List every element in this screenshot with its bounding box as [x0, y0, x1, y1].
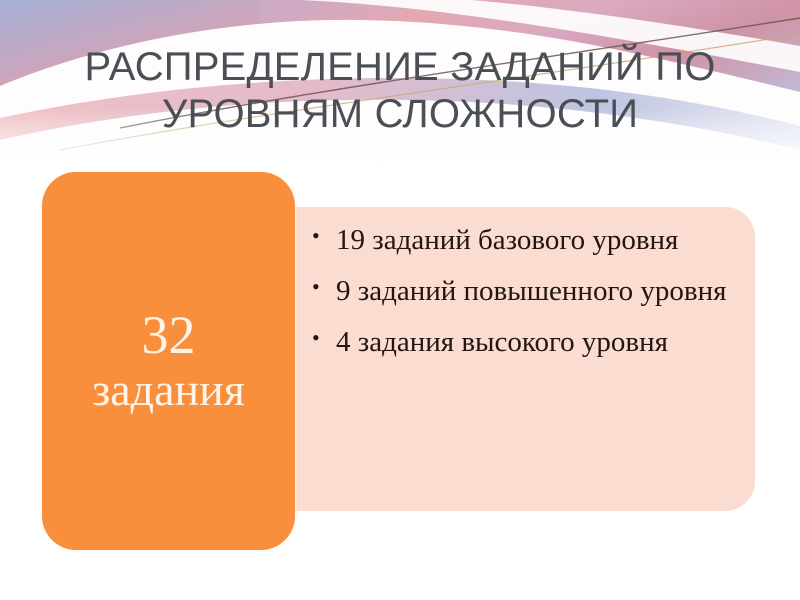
bullet-point-icon: •: [312, 273, 336, 301]
summary-card-label: задания: [92, 366, 245, 414]
bullet-point-icon: •: [312, 222, 336, 250]
list-item: • 9 заданий повышенного уровня: [312, 273, 742, 310]
list-item: • 19 заданий базового уровня: [312, 222, 742, 259]
summary-card[interactable]: 32 задания: [42, 172, 295, 550]
bullet-point-icon: •: [312, 324, 336, 352]
slide-canvas: Распределение заданий по уровням сложнос…: [0, 0, 800, 600]
summary-card-number: 32: [142, 308, 196, 362]
list-item-label: 4 задания высокого уровня: [336, 324, 742, 361]
list-item-label: 9 заданий повышенного уровня: [336, 273, 742, 310]
list-item-label: 19 заданий базового уровня: [336, 222, 742, 259]
list-item: • 4 задания высокого уровня: [312, 324, 742, 361]
bullet-list: • 19 заданий базового уровня • 9 заданий…: [312, 222, 742, 361]
slide-title: Распределение заданий по уровням сложнос…: [40, 44, 760, 138]
